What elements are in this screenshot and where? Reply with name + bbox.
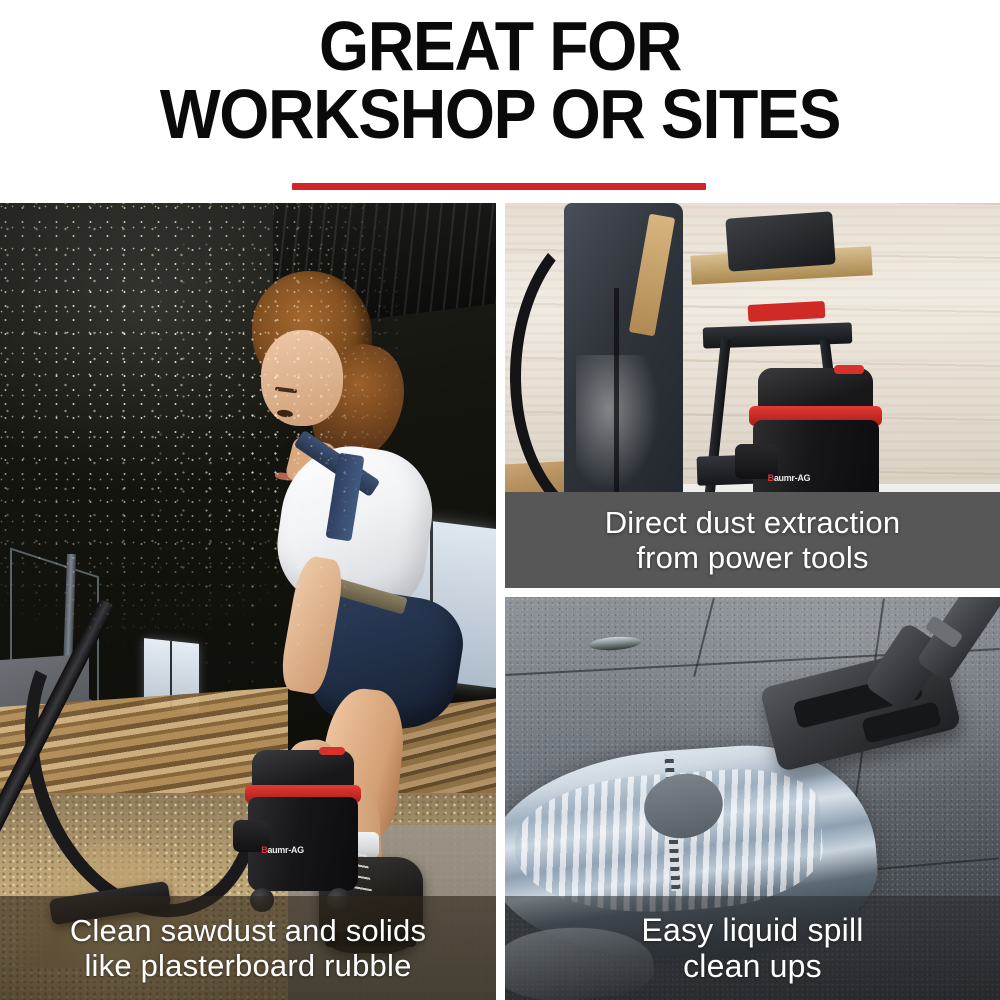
caption-dust-extraction: Direct dust extraction from power tools <box>505 492 1000 588</box>
title-line-1: GREAT FOR <box>40 14 960 80</box>
caption-line-1: Easy liquid spill <box>641 912 863 948</box>
title-underline-rule <box>292 183 706 190</box>
caption-line-2: from power tools <box>605 540 901 575</box>
panel-clean-sawdust[interactable]: Baumr-AG Clean sawdust and solids like p… <box>0 203 496 1000</box>
mitre-saw <box>725 211 835 271</box>
brand-logo: Baumr-AG <box>768 473 811 483</box>
vacuum-cleaner-main: Baumr-AG <box>248 760 358 912</box>
brand-logo-rest: aumr-AG <box>774 473 810 483</box>
caption-liquid-spill: Easy liquid spill clean ups <box>505 896 1000 1000</box>
feature-image-grid: Baumr-AG Clean sawdust and solids like p… <box>0 203 1000 1000</box>
brand-logo: Baumr-AG <box>261 845 304 855</box>
saw-red-accent <box>747 301 825 322</box>
caption-line-1: Direct dust extraction <box>605 505 901 540</box>
vacuum-floor-nozzle <box>762 597 990 823</box>
caption-line-2: like plasterboard rubble <box>70 948 426 983</box>
brand-logo-rest: aumr-AG <box>267 845 303 855</box>
header-banner: GREAT FOR WORKSHOP OR SITES <box>0 0 1000 203</box>
sawdust-cloud-secondary <box>149 235 422 729</box>
scene-workshop-sawdust: Baumr-AG <box>0 203 496 1000</box>
panel-dust-extraction[interactable]: Baumr-AG Direct dust extraction from pow… <box>505 203 1000 588</box>
title-line-2: WORKSHOP OR SITES <box>40 82 960 148</box>
page-title: GREAT FOR WORKSHOP OR SITES <box>0 14 1000 148</box>
caption-clean-sawdust: Clean sawdust and solids like plasterboa… <box>0 896 496 1000</box>
caption-line-1: Clean sawdust and solids <box>70 913 426 948</box>
panel-liquid-spill[interactable]: Easy liquid spill clean ups <box>505 597 1000 1000</box>
caption-line-2: clean ups <box>641 948 863 984</box>
vacuum-motor-head <box>758 368 874 411</box>
